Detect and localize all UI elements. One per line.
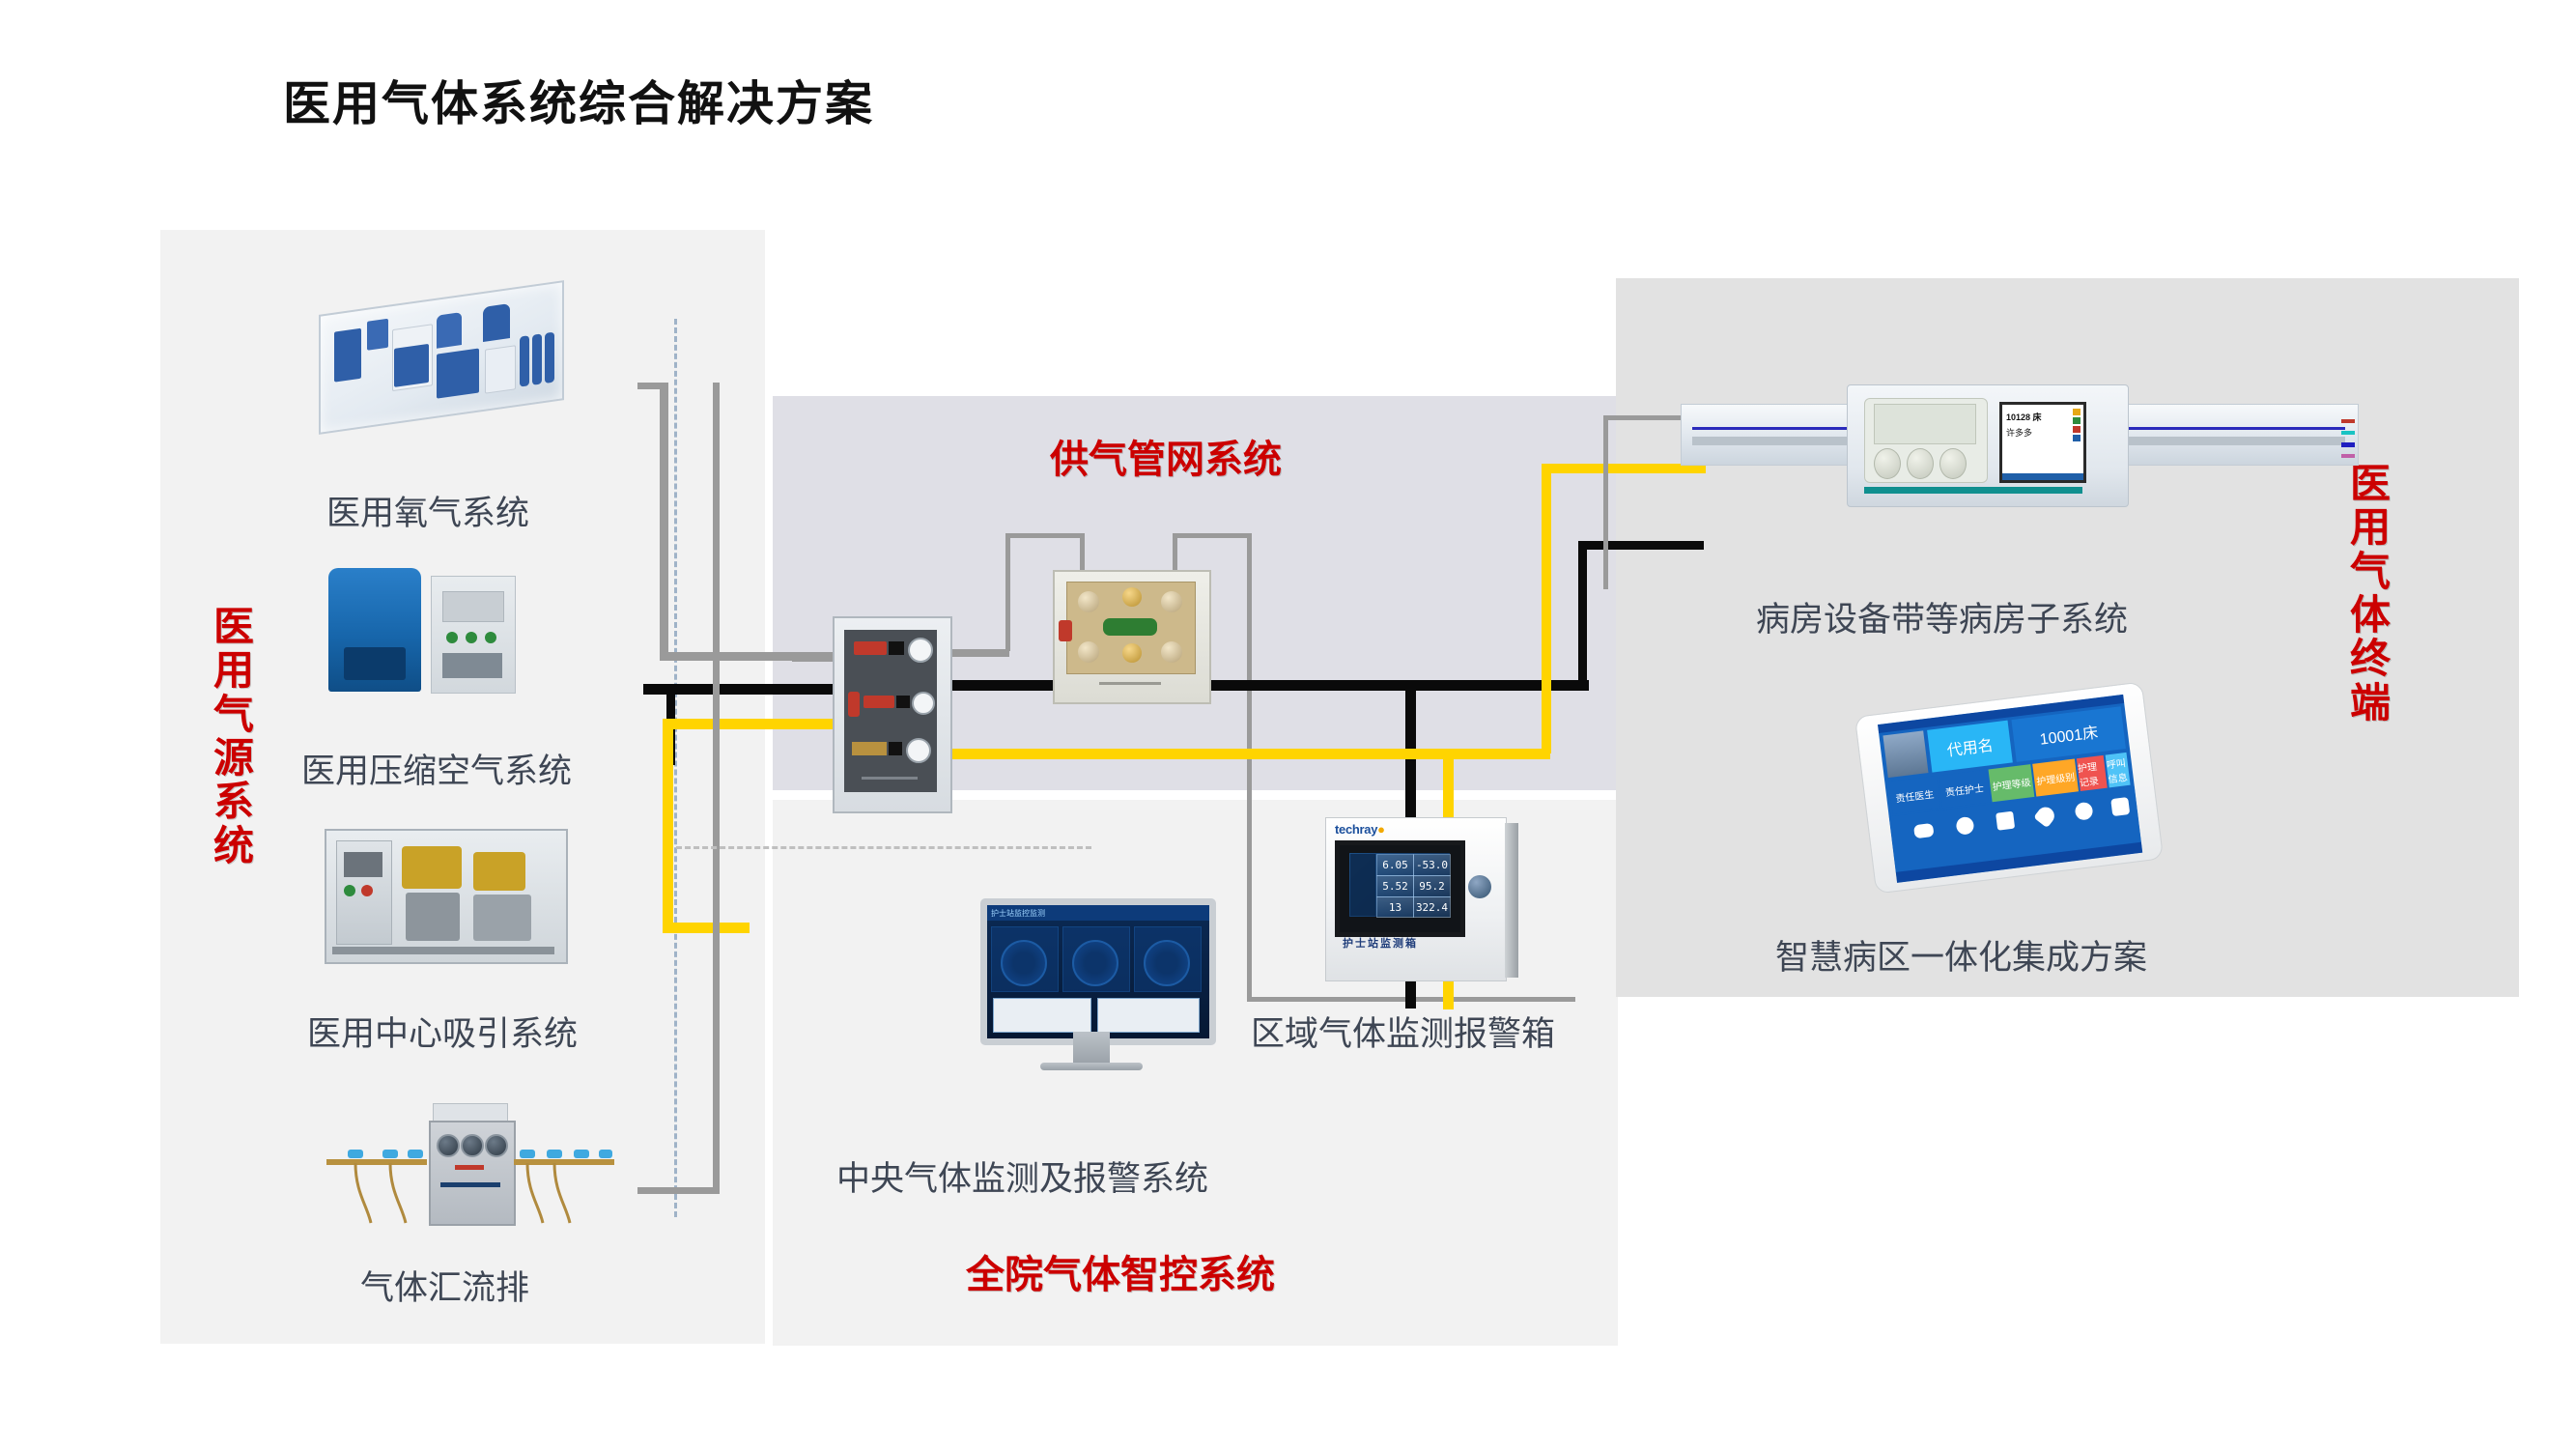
alarm-brand-text: techray [1335,822,1377,837]
signal-dash-horizontal [676,846,1091,849]
diagram-canvas: 医用气体系统综合解决方案 医 用 气 [0,0,2576,1449]
volume-icon[interactable] [1996,811,2015,831]
vchar: 源 [211,736,257,780]
pipe-air-main-center [951,680,1589,691]
heading-pipeline-network: 供气管网系统 [1050,428,1282,484]
vchar: 医 [211,605,257,648]
tablet-tile-record[interactable]: 护理记录 [2077,755,2108,791]
pipe-manifold-vertical [713,383,720,1194]
bhu-bed-number: 10128 床 [2006,411,2042,423]
gas-manifold-icon [326,1101,616,1246]
alarm-lock-knob[interactable] [1468,875,1491,898]
vchar: 用 [2347,505,2393,549]
tablet-tile-care-grade[interactable]: 护理级别 [2032,759,2079,797]
pipe-air-right-riser [1578,541,1587,686]
air-compressor-icon [319,558,560,703]
caption-oxygen-system: 医用氧气系统 [326,486,529,535]
pipe-vacuum-right-riser [1542,464,1551,753]
caption-bed-head-unit: 病房设备带等病房子系统 [1756,592,2128,641]
alarm-reading: 322.4 [1413,896,1451,918]
pipe-manifold-bottom [637,1187,720,1194]
heading-smart-control: 全院气体智控系统 [966,1243,1275,1299]
caption-smart-ward: 智慧病区一体化集成方案 [1775,930,2147,980]
imac-screen-title: 护士站监控监测 [991,908,1045,919]
caption-vacuum-system: 医用中心吸引系统 [307,1007,578,1056]
bed-head-unit-icon: 10128 床 许多多 [1681,384,2357,510]
vchar: 端 [2347,681,2393,724]
pipe-vacuum-horizontal-left [663,719,836,729]
signal-dash-vertical [674,319,677,1217]
pipe-zone-left-horizontal [1005,533,1083,538]
pressure-regulator-box [833,616,948,810]
alarm-reading: 6.05 [1376,854,1414,876]
tablet-tile-call[interactable]: 呼叫信息 [2106,753,2131,787]
pipe-oxygen-vertical [660,383,668,659]
label-gas-source-vertical: 医 用 气 源 系 统 [211,605,257,867]
pipe-zone-right-down [1247,533,1252,1001]
pipe-oxygen-top-stub [637,383,668,389]
caption-central-monitoring: 中央气体监测及报警系统 [836,1151,1208,1201]
alarm-reading: 95.2 [1413,875,1451,897]
vacuum-pump-icon [319,823,570,968]
pipe-regulator-out-upper [951,649,1009,657]
imac-monitor-icon: 护士站监控监测 [980,898,1203,1082]
pipe-vacuum-main-center [951,749,1550,759]
alarm-brand: techray● [1335,822,1385,837]
bhu-patient-name: 许多多 [2006,426,2032,439]
pipe-air-right-top [1578,541,1704,550]
gear-icon[interactable] [2110,797,2130,816]
tablet-tile-nurse[interactable]: 责任护士 [1939,770,1991,809]
caption-zone-alarm-box: 区域气体监测报警箱 [1251,1007,1555,1056]
alarm-reading: -53.0 [1413,854,1451,876]
oxygen-container-plant-icon [319,290,570,425]
vchar: 气 [2347,550,2393,593]
alarm-reading: 5.52 [1376,875,1414,897]
caption-air-system: 医用压缩空气系统 [301,744,572,793]
page-title: 医用气体系统综合解决方案 [283,66,874,134]
vchar: 气 [211,693,257,736]
manifold-hoses-icon [326,1163,616,1240]
vchar: 用 [211,648,257,692]
tablet-tile-doctor[interactable]: 责任医生 [1888,776,1940,814]
pipe-zone-right-horizontal [1173,533,1252,538]
tablet-name-tile[interactable]: 代用名 [1927,721,2013,773]
caption-gas-manifold: 气体汇流排 [360,1261,529,1310]
tablet-icon: 代用名 10001床 责任医生 责任护士 护理等级 护理级别 护理记录 呼叫信息 [1864,698,2154,882]
pipe-vacuum-bottom-stub [663,923,750,933]
pipe-vacuum-vertical [663,719,673,931]
zone-valve-box [1053,570,1207,700]
pipe-terminal-riser [1603,415,1608,589]
vchar: 终 [2347,637,2393,680]
vchar: 系 [211,780,257,823]
patient-avatar [1882,730,1928,778]
vchar: 统 [211,824,257,867]
alarm-box-caption: 护士站监测箱 [1343,935,1418,951]
alarm-reading: 13 [1376,896,1414,918]
pipe-zone-left-vertical [1005,533,1010,651]
tablet-tile-care-level[interactable]: 护理等级 [1989,764,2035,802]
alarm-box-icon: techray● 6.05 -53.0 5.52 95.2 13 322.4 护… [1325,817,1518,981]
vchar: 体 [2347,593,2393,637]
